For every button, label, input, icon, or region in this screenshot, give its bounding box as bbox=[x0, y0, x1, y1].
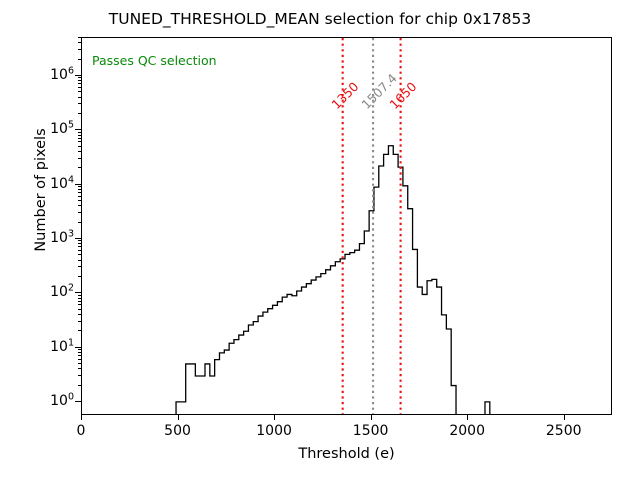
histogram-outline bbox=[176, 146, 490, 414]
y-minor-tick bbox=[78, 87, 82, 88]
y-tick-label: 106 bbox=[50, 67, 74, 83]
y-minor-tick bbox=[78, 321, 82, 322]
y-minor-tick bbox=[78, 276, 82, 277]
y-minor-tick bbox=[78, 158, 82, 159]
y-minor-tick bbox=[78, 301, 82, 302]
y-minor-tick bbox=[78, 167, 82, 168]
y-minor-tick bbox=[78, 138, 82, 139]
y-minor-tick bbox=[78, 254, 82, 255]
y-tick-label: 104 bbox=[50, 176, 74, 192]
y-minor-tick bbox=[78, 205, 82, 206]
y-minor-tick bbox=[78, 309, 82, 310]
y-major-tick bbox=[75, 401, 81, 402]
y-minor-tick bbox=[78, 298, 82, 299]
x-major-tick bbox=[564, 415, 565, 420]
y-major-tick bbox=[75, 184, 81, 185]
y-minor-tick bbox=[78, 243, 82, 244]
y-major-tick bbox=[75, 347, 81, 348]
y-minor-tick bbox=[78, 83, 82, 84]
y-minor-tick bbox=[78, 200, 82, 201]
y-minor-tick bbox=[78, 246, 82, 247]
y-tick-label: 100 bbox=[50, 393, 74, 409]
y-minor-tick bbox=[78, 363, 82, 364]
y-minor-tick bbox=[78, 135, 82, 136]
x-major-tick bbox=[467, 415, 468, 420]
y-minor-tick bbox=[78, 132, 82, 133]
y-minor-tick bbox=[78, 375, 82, 376]
y-minor-tick bbox=[78, 349, 82, 350]
y-tick-label: 105 bbox=[50, 121, 74, 137]
x-tick-label: 1000 bbox=[256, 423, 292, 439]
y-minor-tick bbox=[78, 222, 82, 223]
x-tick-label: 2500 bbox=[546, 423, 582, 439]
histogram-figure: TUNED_THRESHOLD_MEAN selection for chip … bbox=[0, 0, 640, 480]
y-minor-tick bbox=[78, 42, 82, 43]
y-major-tick bbox=[75, 238, 81, 239]
y-minor-tick bbox=[78, 146, 82, 147]
x-tick-label: 2000 bbox=[449, 423, 485, 439]
y-major-tick bbox=[75, 75, 81, 76]
y-minor-tick bbox=[78, 368, 82, 369]
y-minor-tick bbox=[78, 141, 82, 142]
y-minor-tick bbox=[78, 352, 82, 353]
y-minor-tick bbox=[78, 49, 82, 50]
y-minor-tick bbox=[78, 37, 82, 38]
y-minor-tick bbox=[78, 212, 82, 213]
y-minor-tick bbox=[78, 260, 82, 261]
x-major-tick bbox=[178, 415, 179, 420]
y-major-tick bbox=[75, 292, 81, 293]
y-minor-tick bbox=[78, 77, 82, 78]
y-minor-tick bbox=[78, 314, 82, 315]
y-minor-tick bbox=[78, 304, 82, 305]
y-minor-tick bbox=[78, 359, 82, 360]
x-axis-title: Threshold (e) bbox=[81, 446, 612, 462]
y-minor-tick bbox=[78, 186, 82, 187]
y-minor-tick bbox=[78, 189, 82, 190]
y-major-tick bbox=[75, 129, 81, 130]
y-minor-tick bbox=[78, 240, 82, 241]
y-minor-tick bbox=[78, 192, 82, 193]
x-tick-label: 1500 bbox=[353, 423, 389, 439]
x-tick-label: 0 bbox=[77, 423, 86, 439]
y-minor-tick bbox=[78, 80, 82, 81]
y-tick-label: 102 bbox=[50, 284, 74, 300]
y-minor-tick bbox=[78, 250, 82, 251]
y-minor-tick bbox=[78, 113, 82, 114]
y-tick-label: 101 bbox=[50, 339, 74, 355]
y-tick-label: 103 bbox=[50, 230, 74, 246]
y-axis-title: Number of pixels bbox=[33, 75, 49, 305]
y-minor-tick bbox=[78, 103, 82, 104]
x-major-tick bbox=[274, 415, 275, 420]
x-tick-label: 500 bbox=[164, 423, 191, 439]
y-minor-tick bbox=[78, 59, 82, 60]
chart-title: TUNED_THRESHOLD_MEAN selection for chip … bbox=[0, 10, 640, 28]
y-minor-tick bbox=[78, 385, 82, 386]
y-minor-tick bbox=[78, 266, 82, 267]
y-minor-tick bbox=[78, 295, 82, 296]
y-minor-tick bbox=[78, 330, 82, 331]
qc-status-annotation: Passes QC selection bbox=[92, 53, 217, 68]
y-minor-tick bbox=[78, 151, 82, 152]
y-minor-tick bbox=[78, 355, 82, 356]
y-minor-tick bbox=[78, 91, 82, 92]
y-minor-tick bbox=[78, 97, 82, 98]
x-major-tick bbox=[81, 415, 82, 420]
x-major-tick bbox=[371, 415, 372, 420]
y-minor-tick bbox=[78, 196, 82, 197]
